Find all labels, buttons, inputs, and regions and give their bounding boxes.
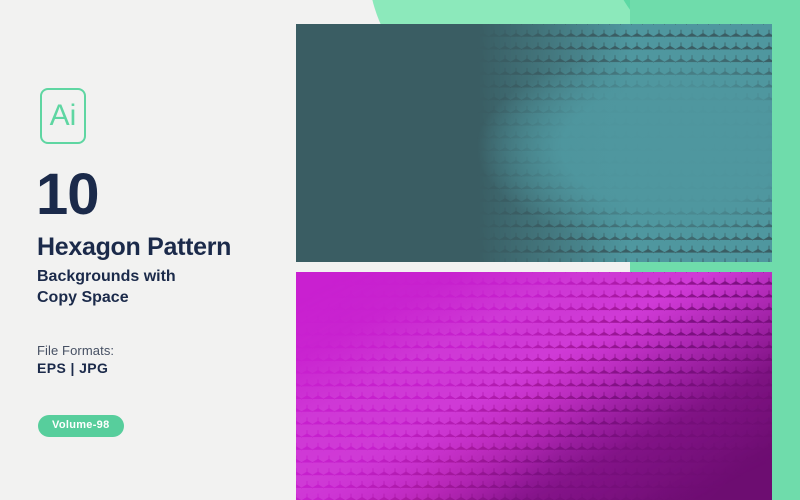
magenta-hexagon-artwork xyxy=(296,272,772,500)
teal-hexagon-artwork xyxy=(296,24,772,262)
page-subtitle-line-1: Backgrounds with xyxy=(37,266,176,287)
file-formats-value: EPS | JPG xyxy=(37,360,108,376)
ai-file-format-icon: Ai xyxy=(40,88,86,144)
volume-badge: Volume-98 xyxy=(38,415,124,437)
file-formats-label: File Formats: xyxy=(37,343,114,358)
page-title: Hexagon Pattern xyxy=(37,234,231,260)
teal-hexagon-banner xyxy=(296,24,772,262)
info-panel: Ai 10 Hexagon Pattern Backgrounds with C… xyxy=(0,0,296,500)
page-subtitle-line-2: Copy Space xyxy=(37,287,176,308)
ai-badge-label: Ai xyxy=(50,101,77,131)
item-count: 10 xyxy=(36,166,99,224)
page-subtitle: Backgrounds with Copy Space xyxy=(37,266,176,308)
magenta-hexagon-banner xyxy=(296,272,772,500)
